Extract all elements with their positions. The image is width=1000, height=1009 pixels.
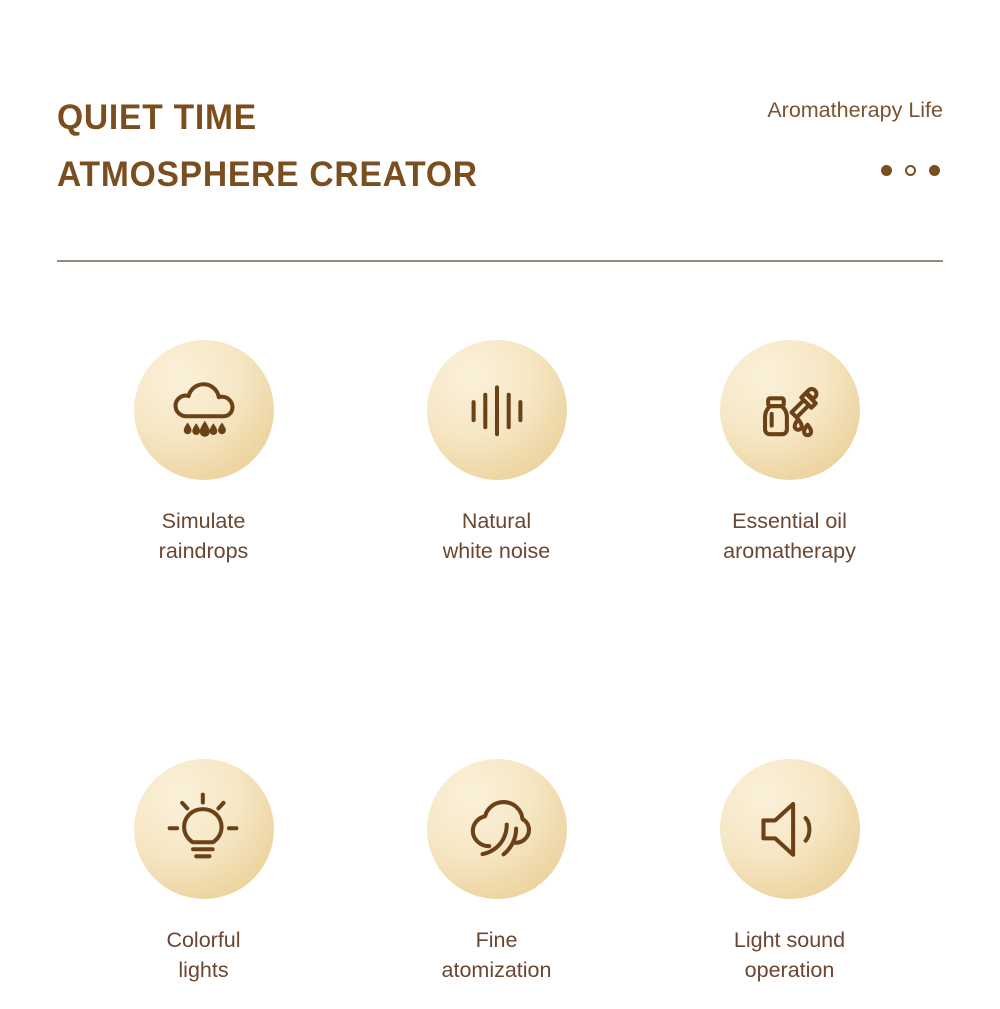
dot-filled-2: [929, 165, 940, 176]
feature-item-colorful-lights: Colorful lights: [57, 759, 350, 985]
page-title-line-1: QUIET TIME: [57, 100, 478, 135]
header-divider: [57, 260, 943, 262]
lightbulb-icon: [165, 790, 243, 868]
feature-icon-circle: [720, 340, 860, 480]
tagline: Aromatherapy Life: [767, 100, 943, 122]
feature-label: Simulate raindrops: [159, 507, 249, 566]
header-meta: Aromatherapy Life: [767, 100, 943, 176]
speaker-icon: [751, 790, 829, 868]
feature-row-2: Colorful lights Fine atomization: [57, 759, 943, 985]
feature-label: Colorful lights: [166, 926, 240, 985]
page-title: QUIET TIME ATMOSPHERE CREATOR: [57, 100, 495, 192]
feature-icon-circle: [720, 759, 860, 899]
feature-item-light-sound-operation: Light sound operation: [643, 759, 936, 985]
product-feature-page: QUIET TIME ATMOSPHERE CREATOR Aromathera…: [0, 0, 1000, 1009]
feature-icon-circle: [134, 340, 274, 480]
sound-wave-icon: [458, 371, 536, 449]
feature-label: Natural white noise: [443, 507, 551, 566]
feature-icon-circle: [427, 340, 567, 480]
feature-icon-circle: [427, 759, 567, 899]
mist-cloud-icon: [458, 790, 536, 868]
dot-indicator: [767, 165, 943, 176]
feature-row-1: Simulate raindrops Natural white noi: [57, 340, 943, 566]
feature-label: Essential oil aromatherapy: [723, 507, 856, 566]
feature-item-natural-white-noise: Natural white noise: [350, 340, 643, 566]
feature-item-fine-atomization: Fine atomization: [350, 759, 643, 985]
page-header: QUIET TIME ATMOSPHERE CREATOR Aromathera…: [57, 100, 943, 250]
feature-label: Light sound operation: [734, 926, 845, 985]
feature-item-essential-oil-aromatherapy: Essential oil aromatherapy: [643, 340, 936, 566]
feature-item-simulate-raindrops: Simulate raindrops: [57, 340, 350, 566]
feature-label: Fine atomization: [442, 926, 552, 985]
rain-cloud-icon: [165, 371, 243, 449]
oil-dropper-icon: [751, 371, 829, 449]
feature-grid: Simulate raindrops Natural white noi: [57, 340, 943, 986]
dot-hollow: [905, 165, 916, 176]
page-title-line-2: ATMOSPHERE CREATOR: [57, 157, 478, 192]
feature-icon-circle: [134, 759, 274, 899]
dot-filled-1: [881, 165, 892, 176]
